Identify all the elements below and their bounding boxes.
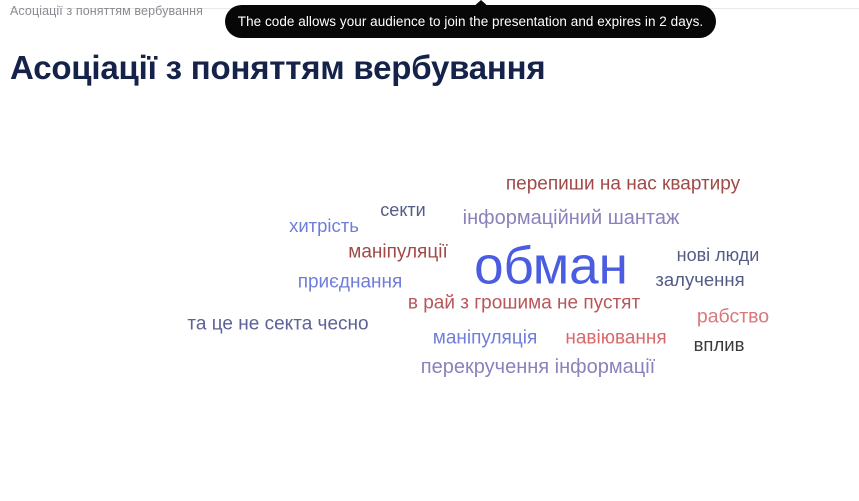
word-cloud-item: інформаційний шантаж	[463, 208, 680, 228]
word-cloud-item: залучення	[655, 271, 744, 290]
word-cloud-item: рабство	[697, 307, 769, 327]
word-cloud-item: навіювання	[565, 329, 666, 348]
word-cloud-item: маніпуляції	[348, 243, 447, 262]
word-cloud: перепиши на нас квартируінформаційний ша…	[0, 0, 859, 501]
word-cloud-item: маніпуляція	[433, 329, 537, 348]
word-cloud-item: вплив	[694, 336, 745, 355]
word-cloud-item: в рай з грошима не пустят	[408, 294, 640, 313]
word-cloud-item: нові люди	[677, 246, 760, 264]
word-cloud-item: хитрість	[289, 217, 359, 236]
word-cloud-item: перекручення інформації	[421, 357, 655, 377]
word-cloud-item: та це не секта чесно	[187, 315, 368, 334]
word-cloud-item: обман	[474, 240, 628, 293]
word-cloud-item: перепиши на нас квартиру	[506, 175, 740, 194]
word-cloud-item: секти	[380, 201, 425, 219]
word-cloud-item: приєднання	[298, 273, 403, 292]
